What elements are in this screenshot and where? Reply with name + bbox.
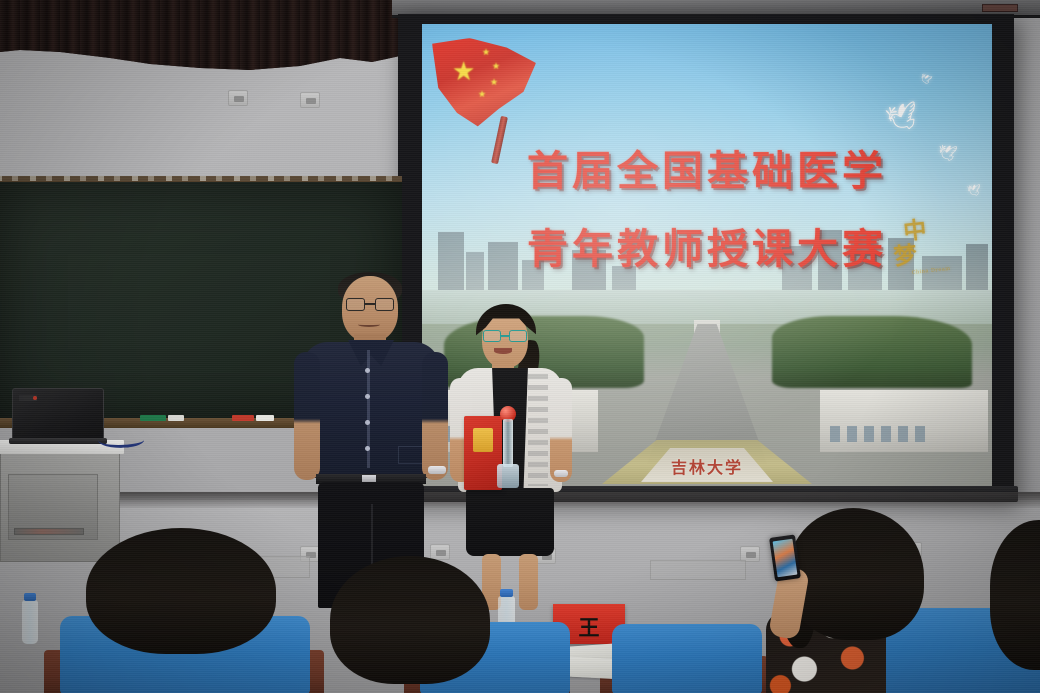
china-dream-en-text: China Dream <box>911 264 973 275</box>
shirt-button <box>365 446 370 451</box>
campus-window <box>898 426 908 442</box>
flag-star-4: ★ <box>478 90 486 99</box>
campus-name-text: 吉林大学 <box>671 454 743 478</box>
glasses-bridge <box>501 335 509 337</box>
campus-window <box>847 426 857 442</box>
certificate-emblem <box>473 428 493 452</box>
campus-trees-right <box>772 316 972 388</box>
flag-cloth: ★ ★ ★ ★ ★ <box>432 38 536 134</box>
audience-head <box>330 556 490 684</box>
presenter-arm-right <box>422 352 448 480</box>
trophy-base <box>497 464 519 488</box>
glasses-lens-left <box>483 330 501 342</box>
presenter-arm-left <box>294 352 320 480</box>
awardee-leg-right <box>519 554 538 610</box>
campus-window <box>881 426 891 442</box>
presenter-shirt <box>302 342 440 478</box>
presenter-shirt-pocket <box>398 446 424 464</box>
china-dream-char-3: 梦 <box>893 238 973 268</box>
water-bottle-cap <box>24 593 36 601</box>
campus-window <box>830 426 840 442</box>
audience-right-with-phone <box>780 508 930 693</box>
smartphone-screen <box>773 539 798 577</box>
wall-outlet <box>300 92 320 108</box>
trophy-column <box>503 419 513 467</box>
campus-window <box>915 426 925 442</box>
shirt-button <box>365 368 370 373</box>
flag-star-large: ★ <box>452 58 475 84</box>
shirt-button <box>365 420 370 425</box>
water-bottle <box>22 600 38 644</box>
chalk-tray-item <box>256 415 274 421</box>
campus-window-row-right <box>830 426 925 442</box>
audience-head <box>86 528 276 654</box>
shirt-button <box>365 394 370 399</box>
audience-far-right <box>990 520 1040 693</box>
presenter-mouth <box>358 322 380 327</box>
campus-building-right <box>820 390 988 452</box>
glasses-lens-right <box>509 330 527 342</box>
glasses-lens-right <box>375 298 394 311</box>
crystal-trophy <box>496 406 520 490</box>
campus-window <box>864 426 874 442</box>
laptop-base <box>9 438 107 444</box>
chalk-tray-item <box>168 415 184 421</box>
audience-front-left <box>86 528 276 693</box>
slide-title-line-1: 首届全国基础医学 <box>422 142 992 200</box>
china-flag-icon: ★ ★ ★ ★ ★ <box>424 32 544 152</box>
flag-star-1: ★ <box>482 48 490 57</box>
awardee-smile <box>494 348 512 354</box>
glasses-bridge <box>365 303 375 305</box>
placard-character: 王 <box>579 612 600 642</box>
audience-front-center <box>330 556 490 693</box>
chair-back <box>612 624 762 693</box>
awardee-arm-right <box>550 378 572 482</box>
presenter-glasses-icon <box>346 298 394 311</box>
cardigan-stripes <box>528 374 548 486</box>
laptop-logo <box>19 395 37 401</box>
chalk-tray-item <box>140 415 166 421</box>
awardee-dress <box>466 488 554 556</box>
china-dream-logo: 中 梦 China Dream <box>902 215 975 295</box>
awardee-glasses-icon <box>483 330 527 342</box>
podium-equipment-slot <box>14 528 84 535</box>
wall-outlet <box>228 90 248 106</box>
flag-star-2: ★ <box>492 62 500 71</box>
audience-head <box>788 508 924 640</box>
wall-panel <box>650 560 746 580</box>
housing-bracket <box>982 4 1018 12</box>
chalk-tray-item <box>232 415 254 421</box>
audience-head <box>990 520 1040 670</box>
glasses-lens-left <box>346 298 365 311</box>
presenter-wristwatch <box>428 466 446 474</box>
flag-star-3: ★ <box>490 78 498 87</box>
water-bottle-cap <box>500 589 513 597</box>
laptop-on-podium[interactable] <box>12 388 104 446</box>
laptop-lid <box>12 388 104 440</box>
awardee-wristwatch <box>554 470 568 477</box>
lecture-hall-photo: ★ ★ ★ ★ ★ 🕊🕊🕊🕊 <box>0 0 1040 693</box>
